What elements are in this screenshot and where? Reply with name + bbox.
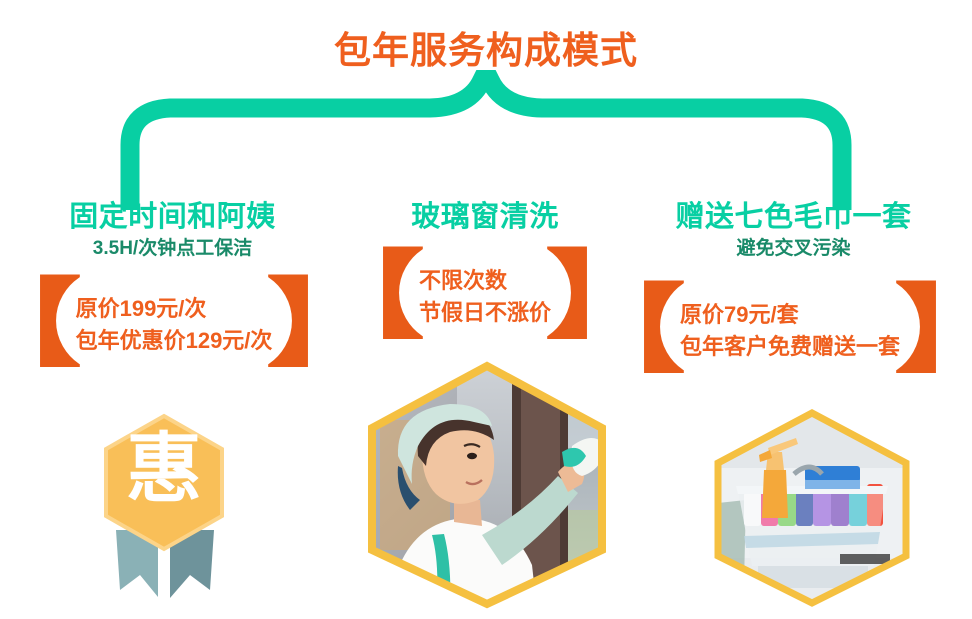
column-3-price-line-1: 原价79元/套 xyxy=(680,302,799,327)
photo-window-cleaning xyxy=(362,360,612,610)
column-1-price-line-2: 包年优惠价129元/次 xyxy=(76,328,273,353)
column-1-price-lines: 原价199元/次 包年优惠价129元/次 xyxy=(72,293,277,355)
column-3-subheading: 避免交叉污染 xyxy=(615,238,972,261)
bracket-left-icon: 【 xyxy=(305,262,425,331)
column-2-heading: 玻璃窗清洗 xyxy=(345,200,625,234)
column-1-heading: 固定时间和阿姨 xyxy=(0,200,345,234)
bracket-left-icon: 【 xyxy=(0,290,82,359)
photo-towel-basket xyxy=(710,408,915,608)
column-1-price-line-1: 原价199元/次 xyxy=(76,296,207,321)
page-title: 包年服务构成模式 xyxy=(0,20,972,74)
brace-connector-icon xyxy=(100,70,872,210)
column-3-price-block: 【 原价79元/套 包年客户免费赠送一套 】 xyxy=(620,296,960,365)
column-2-detail-line-2: 节假日不涨价 xyxy=(419,300,551,325)
column-1-price-block: 【 原价199元/次 包年优惠价129元/次 】 xyxy=(4,290,344,359)
column-2-detail-block: 【 不限次数 节假日不涨价 】 xyxy=(374,262,596,331)
column-1-subheading: 3.5H/次钟点工保洁 xyxy=(0,238,345,261)
column-fixed-schedule: 固定时间和阿姨 3.5H/次钟点工保洁 xyxy=(0,200,345,261)
infographic-root: 包年服务构成模式 固定时间和阿姨 3.5H/次钟点工保洁 【 原价199元/次 … xyxy=(0,0,972,619)
column-3-price-line-2: 包年客户免费赠送一套 xyxy=(680,334,900,359)
column-2-detail-lines: 不限次数 节假日不涨价 xyxy=(415,265,555,327)
column-free-towels: 赠送七色毛巾一套 避免交叉污染 xyxy=(615,200,972,261)
bracket-left-icon: 【 xyxy=(566,296,686,365)
column-window-cleaning: 玻璃窗清洗 xyxy=(345,200,625,234)
discount-badge-icon xyxy=(98,412,230,617)
bracket-right-icon: 】 xyxy=(894,296,972,365)
column-3-price-lines: 原价79元/套 包年客户免费赠送一套 xyxy=(676,299,904,361)
column-3-heading: 赠送七色毛巾一套 xyxy=(615,200,972,234)
column-2-detail-line-1: 不限次数 xyxy=(419,268,507,293)
